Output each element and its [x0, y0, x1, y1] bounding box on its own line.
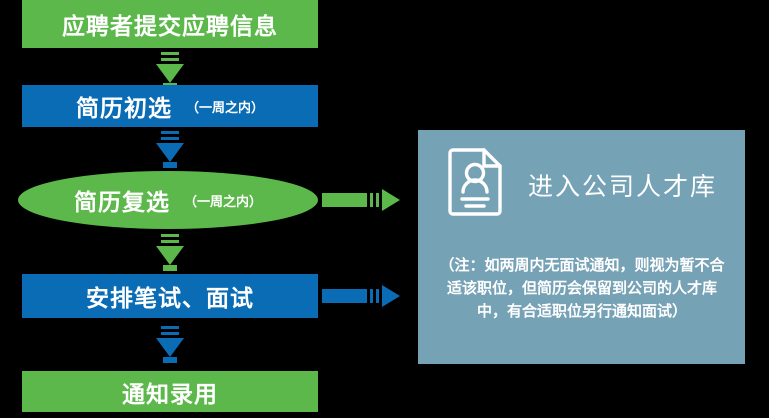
connector-arrow-right-talentpool-1: [322, 189, 400, 211]
arrow-bar: [161, 58, 179, 61]
arrow-head: [156, 338, 184, 357]
arrow-head: [156, 246, 184, 265]
arrow-bar: [161, 137, 179, 140]
flow-node-submit-label: 应聘者提交应聘信息: [62, 7, 278, 41]
arrow-bar: [161, 240, 179, 243]
flow-node-offer-label: 通知录用: [122, 375, 218, 409]
arrow-stem: [163, 162, 177, 168]
arrow-tick: [370, 193, 373, 207]
flow-node-offer[interactable]: 通知录用: [22, 371, 318, 412]
connector-arrow-right-talentpool-2: [322, 285, 400, 307]
flow-node-screen2-sublabel: （一周之内）: [184, 191, 262, 210]
arrow-tick: [376, 289, 379, 303]
arrow-bar: [161, 52, 179, 55]
flow-node-interview-label: 安排笔试、面试: [86, 279, 254, 313]
connector-arrow-down-1: [156, 52, 184, 89]
arrow-bar: [161, 234, 179, 237]
flow-node-screen2[interactable]: 简历复选 （一周之内）: [18, 171, 318, 229]
arrow-shaft: [322, 289, 367, 303]
arrow-stem: [163, 357, 177, 363]
flow-node-screen1-label: 简历初选: [76, 89, 172, 123]
arrow-head: [156, 64, 184, 83]
arrow-stem: [163, 265, 177, 271]
recruitment-flowchart: 应聘者提交应聘信息 简历初选 （一周之内） 简历复选 （一周之内）: [0, 0, 769, 418]
arrow-bar: [161, 131, 179, 134]
flow-node-submit[interactable]: 应聘者提交应聘信息: [22, 0, 318, 48]
talent-pool-note: （注：如两周内无面试通知，则视为暂不合适该职位，但简历会保留到公司的人才库中，有…: [436, 254, 728, 323]
arrow-head: [382, 285, 400, 307]
flow-node-screen1[interactable]: 简历初选 （一周之内）: [22, 85, 318, 127]
connector-arrow-down-2: [156, 131, 184, 168]
talent-pool-title: 进入公司人才库: [528, 167, 717, 203]
arrow-tick: [376, 193, 379, 207]
arrow-head: [156, 143, 184, 162]
flow-node-screen2-label: 简历复选: [74, 183, 170, 217]
flow-node-interview[interactable]: 安排笔试、面试: [22, 274, 318, 318]
talent-pool-header: 进入公司人才库: [448, 148, 717, 221]
arrow-head: [382, 189, 400, 211]
flow-node-screen1-sublabel: （一周之内）: [186, 97, 264, 116]
arrow-shaft: [322, 193, 367, 207]
resume-person-icon: [448, 148, 502, 221]
arrow-bar: [161, 326, 179, 329]
arrow-tick: [370, 289, 373, 303]
connector-arrow-down-3: [156, 234, 184, 271]
talent-pool-panel[interactable]: 进入公司人才库 （注：如两周内无面试通知，则视为暂不合适该职位，但简历会保留到公…: [418, 130, 745, 364]
connector-arrow-down-4: [156, 326, 184, 363]
arrow-bar: [161, 332, 179, 335]
